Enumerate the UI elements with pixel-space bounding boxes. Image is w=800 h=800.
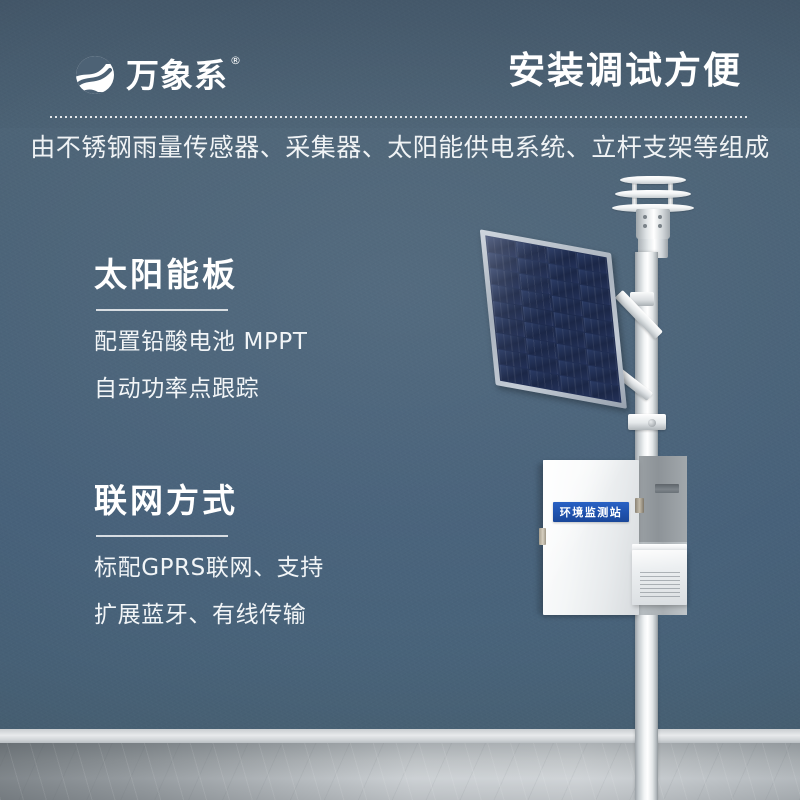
product-poster: 万象系 ® 安装调试方便 由不锈钢雨量传感器、采集器、太阳能供电系统、立杆支架等…: [0, 0, 800, 800]
junction-box-vent-grill: [640, 572, 680, 598]
solar-panel: [480, 229, 627, 409]
bracket-bolt: [648, 419, 656, 427]
cabinet-hinge: [635, 498, 644, 513]
bracket-clamp-lower: [628, 414, 666, 430]
floor-texture: [0, 743, 800, 800]
sensor-shield-disc: [620, 176, 686, 184]
sensor-shield-disc: [615, 190, 691, 198]
feature-block-solar-panel: 太阳能板 配置铅酸电池 MPPT 自动功率点跟踪: [94, 256, 424, 401]
globe-swirl-icon: [72, 52, 118, 98]
feature-lines-solar-panel: 配置铅酸电池 MPPT 自动功率点跟踪: [94, 331, 424, 401]
header-title: 安装调试方便: [508, 48, 742, 94]
cabinet-side-panel-upper: [639, 456, 687, 542]
feature-line: 扩展蓝牙、有线传输: [94, 604, 424, 627]
feature-block-network-mode: 联网方式 标配GPRS联网、支持 扩展蓝牙、有线传输: [94, 482, 424, 627]
cabinet-vent-slot: [655, 484, 679, 493]
solar-panel-cell-grid: [485, 235, 621, 403]
feature-line: 自动功率点跟踪: [94, 378, 424, 401]
feature-divider-network-mode: [96, 535, 228, 537]
feature-title-solar-panel: 太阳能板: [94, 256, 424, 295]
brand-name-wrap: 万象系 ®: [126, 59, 228, 92]
brand-logo: 万象系 ®: [72, 52, 228, 98]
station-name-plate: 环境监测站: [553, 502, 629, 522]
feature-title-network-mode: 联网方式: [94, 482, 424, 521]
feature-divider-solar-panel: [96, 309, 228, 311]
wall-baseboard: [0, 729, 800, 743]
feature-lines-network-mode: 标配GPRS联网、支持 扩展蓝牙、有线传输: [94, 557, 424, 627]
sensor-port: [658, 215, 662, 219]
weather-sensor-head: [612, 176, 694, 238]
sensor-port: [643, 215, 647, 219]
equipment-cabinet: 环境监测站: [543, 456, 687, 618]
cabinet-latch: [539, 528, 546, 545]
header-divider: [50, 116, 750, 118]
station-name-text: 环境监测站: [560, 507, 623, 518]
sensor-body: [636, 209, 670, 239]
cabinet-door: [543, 460, 639, 615]
sensor-port: [658, 224, 662, 228]
brand-name: 万象系: [126, 56, 228, 95]
sensor-port: [643, 224, 647, 228]
header-subtitle: 由不锈钢雨量传感器、采集器、太阳能供电系统、立杆支架等组成: [0, 132, 800, 165]
feature-line: 标配GPRS联网、支持: [94, 557, 424, 580]
registered-mark: ®: [230, 55, 242, 66]
feature-line: 配置铅酸电池 MPPT: [94, 331, 424, 354]
